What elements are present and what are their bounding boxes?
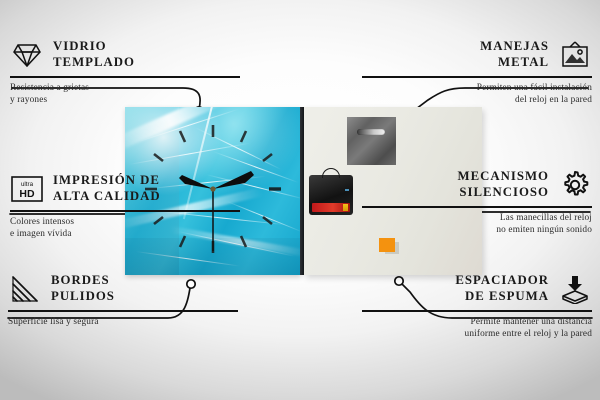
feature-title: VIDRIOTEMPLADO <box>53 39 135 70</box>
feature-description: Superficie lisa y segura <box>8 316 238 329</box>
divider <box>362 206 592 208</box>
diamond-icon <box>10 38 44 72</box>
feature-mecanismo-silencioso: MECANISMOSILENCIOSO Las manecillas del r… <box>362 168 592 237</box>
feature-impresion-alta-calidad: ultra HD IMPRESIÓN DEALTA CALIDAD Colore… <box>10 172 240 241</box>
battery <box>312 203 350 212</box>
svg-text:ultra: ultra <box>21 181 34 188</box>
feature-bordes-pulidos: BORDESPULIDOS Superficie lisa y segura <box>8 272 238 328</box>
feature-manejas-metal: MANEJASMETAL Permiten una fácil instalac… <box>362 38 592 107</box>
feature-title: ESPACIADORDE ESPUMA <box>455 273 549 304</box>
polished-edge-icon <box>8 272 42 306</box>
feature-description: Las manecillas del relojno emiten ningún… <box>362 212 592 238</box>
gear-icon <box>558 168 592 202</box>
picture-frame-hanging-icon <box>558 38 592 72</box>
feature-title: MANEJASMETAL <box>480 39 549 70</box>
ultra-hd-icon: ultra HD <box>10 172 44 206</box>
divider <box>10 210 240 212</box>
feature-espaciador-espuma: ESPACIADORDE ESPUMA Permite mantener una… <box>362 272 592 341</box>
feature-description: Resistencia a grietasy rayones <box>10 82 240 108</box>
feature-description: Permite mantener una distanciauniforme e… <box>362 316 592 342</box>
arrow-down-into-layer-icon <box>558 272 592 306</box>
feature-title: BORDESPULIDOS <box>51 273 115 304</box>
feature-title: MECANISMOSILENCIOSO <box>458 169 549 200</box>
svg-text:HD: HD <box>19 188 35 200</box>
foam-spacer <box>379 238 395 252</box>
divider <box>8 310 238 312</box>
divider <box>10 76 240 78</box>
infographic-stage: VIDRIOTEMPLADO Resistencia a grietasy ra… <box>0 0 600 400</box>
quartz-mechanism <box>309 175 353 215</box>
feature-vidrio-templado: VIDRIOTEMPLADO Resistencia a grietasy ra… <box>10 38 240 107</box>
feature-description: Permiten una fácil instalacióndel reloj … <box>362 82 592 108</box>
divider <box>362 76 592 78</box>
feature-description: Colores intensose imagen vívida <box>10 216 240 242</box>
metal-hanger-plate <box>347 117 396 165</box>
divider <box>362 310 592 312</box>
feature-title: IMPRESIÓN DEALTA CALIDAD <box>53 173 161 204</box>
